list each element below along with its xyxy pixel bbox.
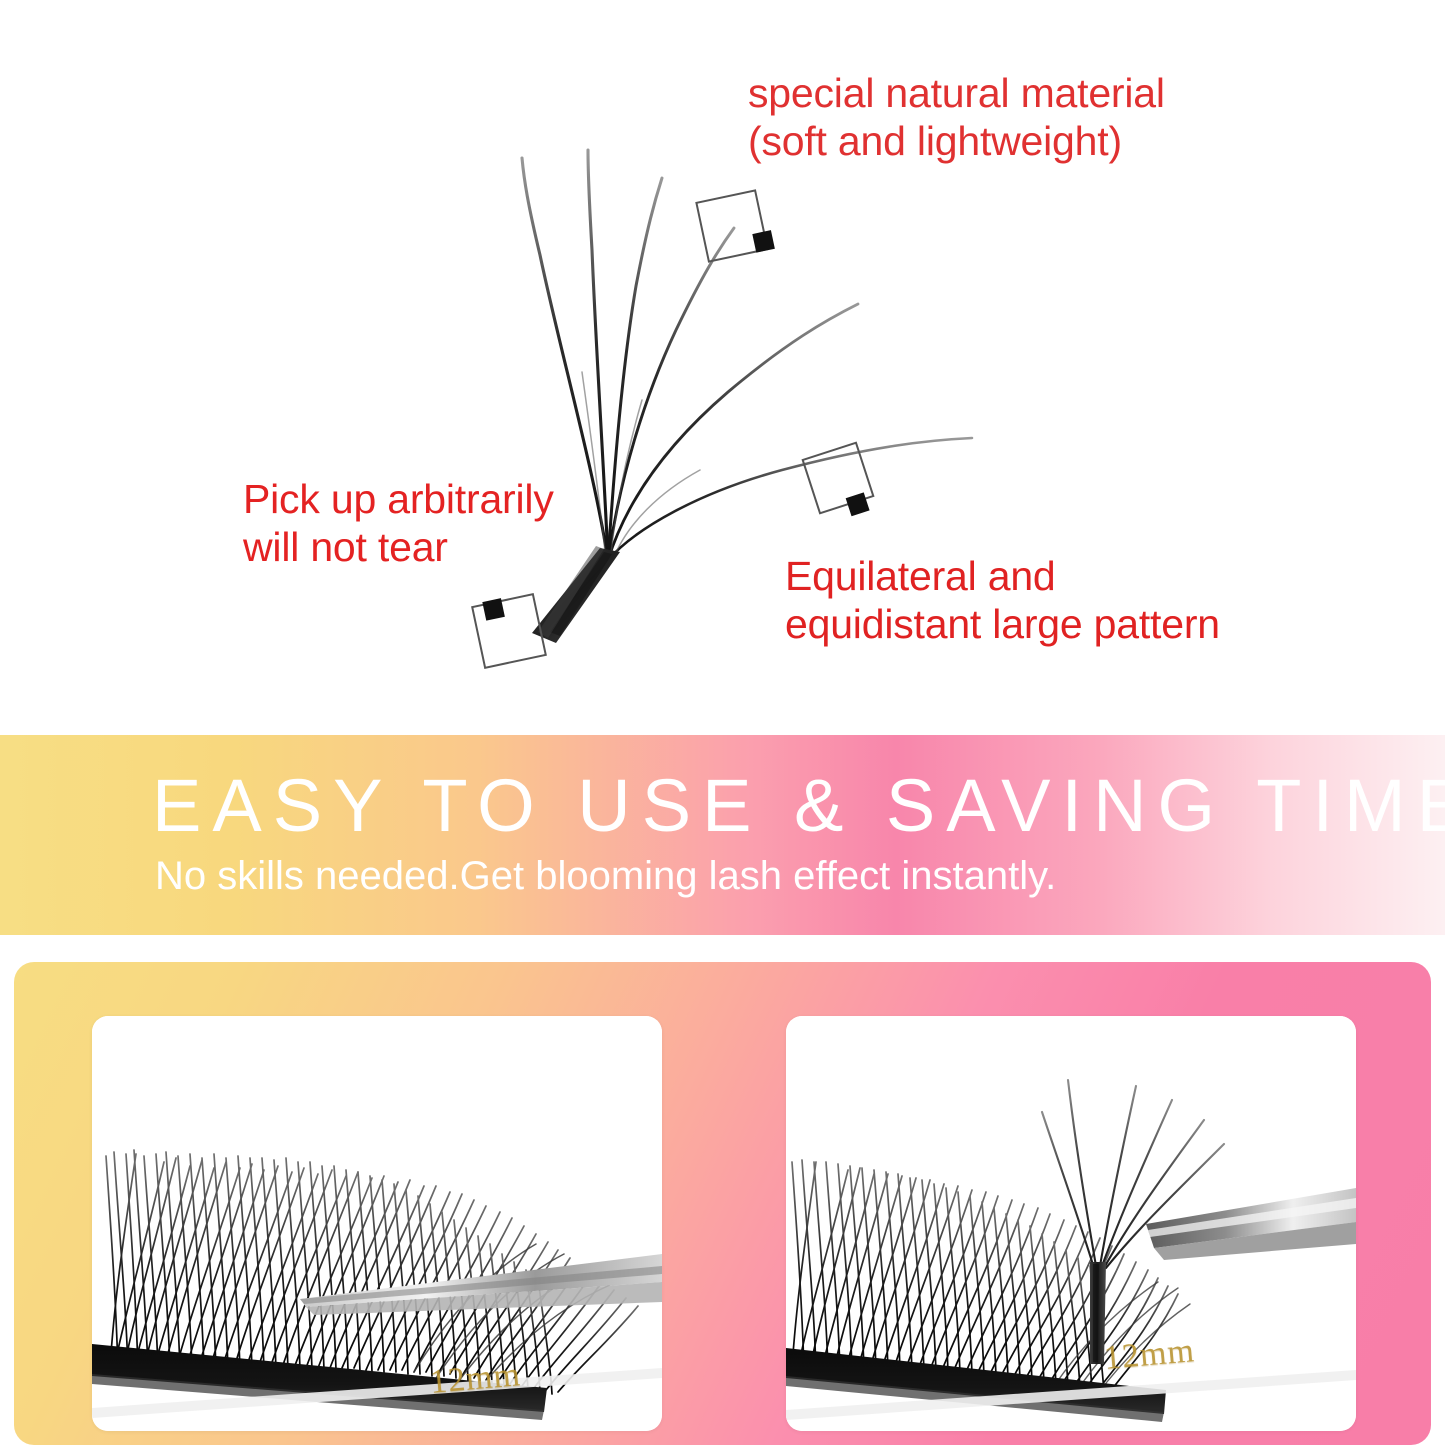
photo-card-left: 12mm xyxy=(92,1016,662,1431)
product-feature-diagram-section: special natural material (soft and light… xyxy=(0,0,1445,735)
blooming-lash-fan-photo xyxy=(786,1016,1356,1431)
callout-equilateral-equidistant: Equilateral and equidistant large patter… xyxy=(785,553,1220,648)
lash-tray-with-tweezers-photo xyxy=(92,1016,662,1431)
lash-fan-illustration xyxy=(0,0,1445,735)
callout-special-natural-material: special natural material (soft and light… xyxy=(748,70,1165,165)
callout-pick-up-arbitrarily: Pick up arbitrarily will not tear xyxy=(243,476,554,571)
photo-card-right: 12mm xyxy=(786,1016,1356,1431)
banner-subtitle: No skills needed.Get blooming lash effec… xyxy=(155,856,1305,896)
banner-title: EASY TO USE & SAVING TIME xyxy=(152,769,1302,843)
product-photo-section: 12mm xyxy=(0,935,1445,1445)
callout-marker-top xyxy=(696,190,774,261)
photo-panel: 12mm xyxy=(14,962,1431,1445)
callout-marker-middle xyxy=(803,443,874,517)
